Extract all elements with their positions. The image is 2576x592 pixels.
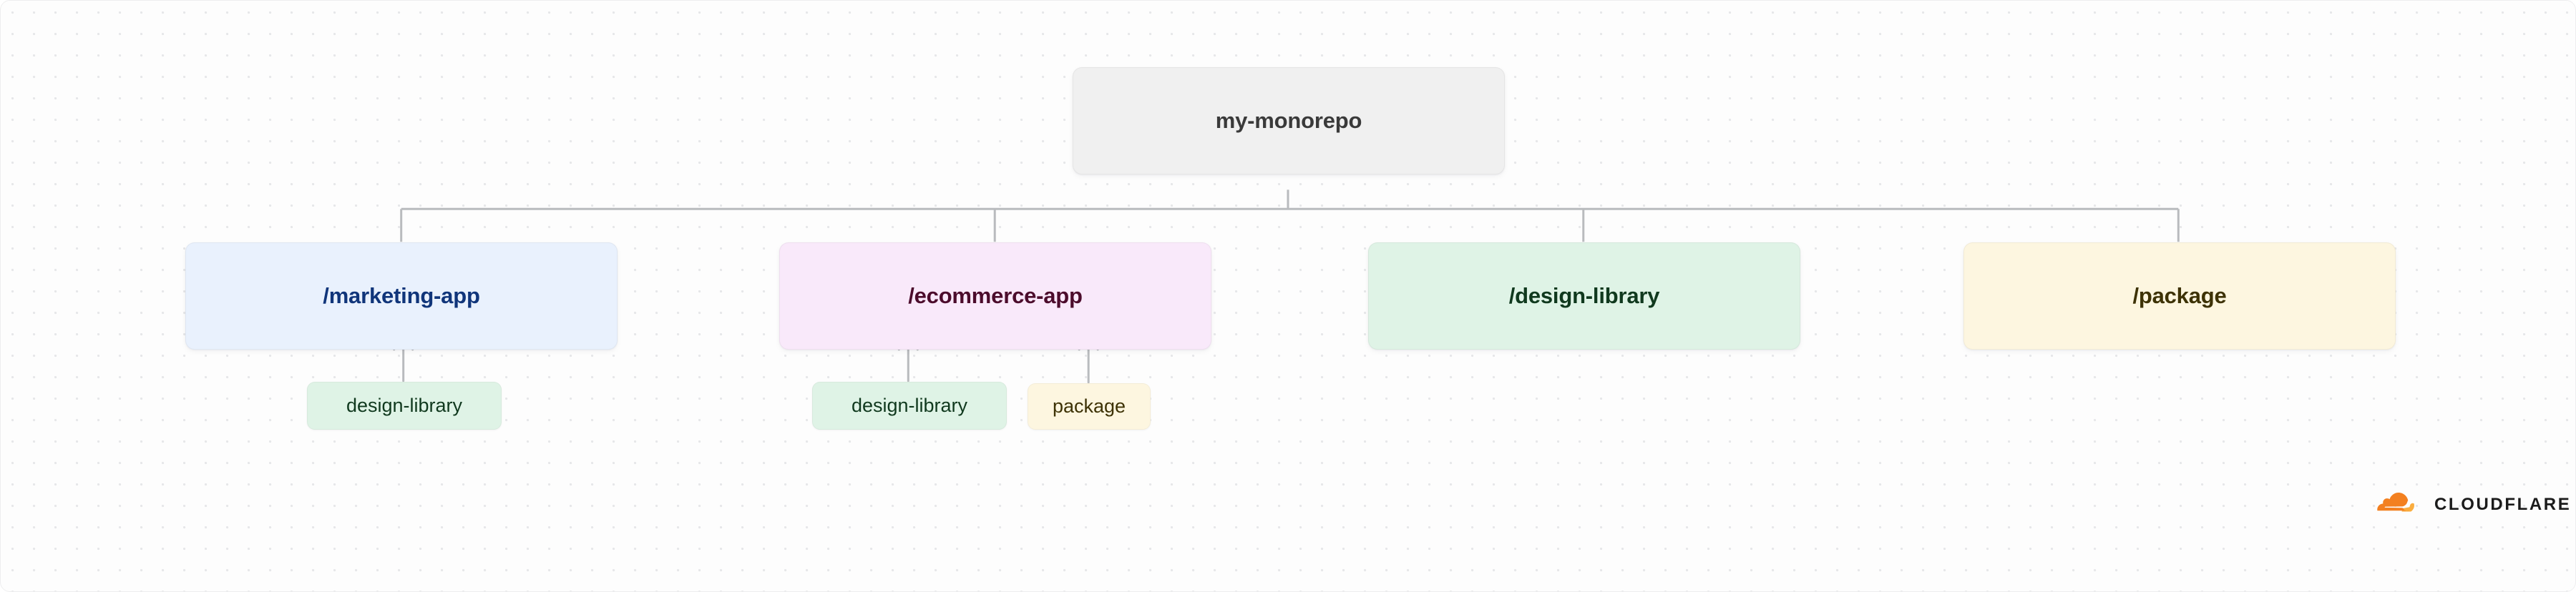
node-label: my-monorepo	[1216, 108, 1362, 134]
node-my-monorepo[interactable]: my-monorepo	[1073, 67, 1505, 174]
node-design-library[interactable]: /design-library	[1368, 242, 1800, 350]
node-label: /ecommerce-app	[908, 283, 1083, 309]
node-label: /package	[2132, 283, 2226, 309]
diagram-canvas[interactable]: my-monorepo /marketing-app /ecommerce-ap…	[0, 0, 2576, 592]
node-label: /design-library	[1509, 283, 1660, 309]
cloudflare-wordmark: CLOUDFLARE	[2434, 495, 2571, 515]
node-ecommerce-app[interactable]: /ecommerce-app	[779, 242, 1211, 350]
dependency-chip-ecommerce-package[interactable]: package	[1028, 383, 1151, 430]
node-marketing-app[interactable]: /marketing-app	[185, 242, 618, 350]
cloudflare-cloud-icon	[2373, 493, 2424, 517]
node-label: /marketing-app	[323, 283, 479, 309]
dependency-chip-marketing-design-library[interactable]: design-library	[307, 382, 502, 430]
dependency-chip-label: package	[1053, 395, 1126, 418]
dependency-chip-label: design-library	[346, 395, 462, 417]
cloudflare-logo: CLOUDFLARE	[2373, 493, 2571, 517]
dependency-chip-ecommerce-design-library[interactable]: design-library	[812, 382, 1007, 430]
node-package[interactable]: /package	[1963, 242, 2396, 350]
dependency-chip-label: design-library	[852, 395, 967, 417]
